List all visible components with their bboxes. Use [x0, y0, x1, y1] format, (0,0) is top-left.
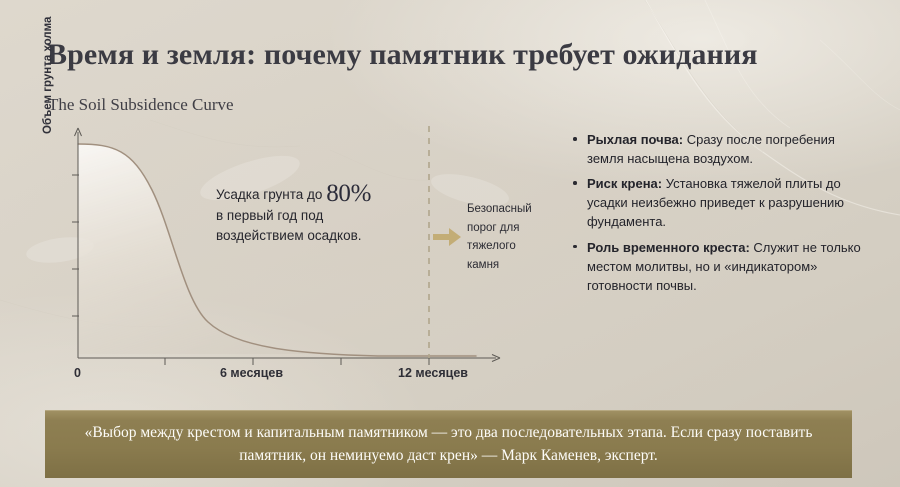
subsidence-callout: Усадка грунта до 80% в первый год под во…	[216, 183, 426, 247]
list-item: Рыхлая почва: Сразу после погребения зем…	[570, 130, 875, 168]
x-axis-ticks	[165, 358, 429, 365]
x-tick-label-0: 0	[74, 366, 81, 380]
quote-banner: «Выбор между крестом и капитальным памят…	[45, 410, 852, 478]
safe-threshold-label: Безопасный порог для тяжелого камня	[467, 200, 547, 275]
soil-subsidence-chart	[48, 122, 508, 387]
callout-line3: воздействием осадков.	[216, 228, 362, 243]
x-tick-label-2: 12 месяцев	[398, 366, 468, 380]
list-item: Роль временного креста: Служит не только…	[570, 238, 875, 295]
list-item: Риск крена: Установка тяжелой плиты до у…	[570, 174, 875, 231]
bullet-lead: Риск крена:	[587, 176, 662, 191]
bullet-lead: Рыхлая почва:	[587, 132, 683, 147]
callout-line2: в первый год под	[216, 208, 323, 223]
bullet-lead: Роль временного креста:	[587, 240, 750, 255]
callout-line1-prefix: Усадка грунта до	[216, 187, 322, 202]
callout-big-number: 80%	[326, 180, 371, 207]
x-tick-label-1: 6 месяцев	[220, 366, 283, 380]
chart-subtitle: The Soil Subsidence Curve	[48, 95, 234, 115]
quote-text: «Выбор между крестом и капитальным памят…	[45, 422, 852, 468]
y-axis-label: Объем грунта холма	[42, 0, 58, 134]
chart-area-fill	[78, 144, 478, 356]
page-title: Время и земля: почему памятник требует о…	[47, 38, 758, 71]
chart-svg	[48, 122, 508, 387]
arrow-right-icon	[433, 228, 461, 251]
key-points-list: Рыхлая почва: Сразу после погребения зем…	[570, 130, 875, 301]
